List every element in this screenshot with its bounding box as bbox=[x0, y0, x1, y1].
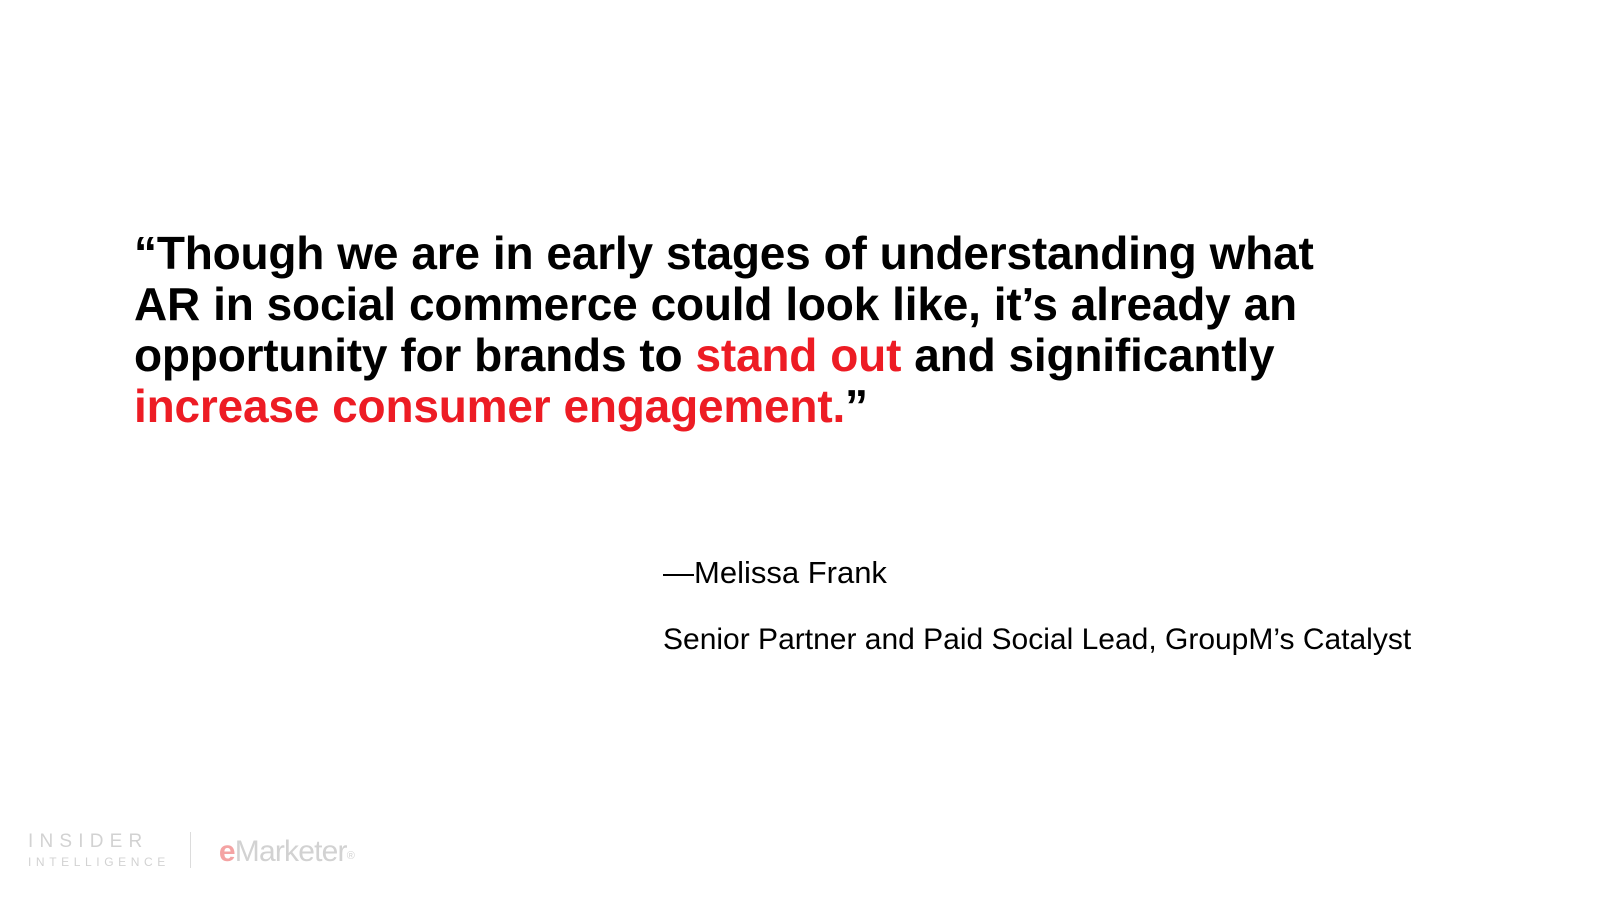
insider-intelligence-logo: INSIDER INTELLIGENCE bbox=[28, 831, 170, 870]
attribution-block: —Melissa Frank Senior Partner and Paid S… bbox=[663, 553, 1423, 660]
quote-segment-2: and significantly bbox=[901, 329, 1274, 381]
quote-block: “Though we are in early stages of unders… bbox=[134, 228, 1374, 432]
quote-close-mark: ” bbox=[845, 380, 868, 432]
quote-text: “Though we are in early stages of unders… bbox=[134, 228, 1374, 432]
emarketer-registered-icon: ® bbox=[347, 850, 355, 862]
emarketer-logo: eMarketer® bbox=[219, 836, 355, 872]
logo-divider bbox=[190, 832, 191, 868]
footer-logo-lockup: INSIDER INTELLIGENCE eMarketer® bbox=[28, 826, 355, 874]
attribution-role: Senior Partner and Paid Social Lead, Gro… bbox=[663, 593, 1423, 660]
insider-intelligence-line2: INTELLIGENCE bbox=[28, 852, 170, 870]
quote-highlight-stand-out: stand out bbox=[696, 329, 902, 381]
quote-open-mark: “ bbox=[134, 227, 157, 279]
insider-intelligence-line1: INSIDER bbox=[28, 831, 170, 852]
quote-highlight-increase-engagement: increase consumer engagement. bbox=[134, 380, 845, 432]
quote-slide: “Though we are in early stages of unders… bbox=[0, 0, 1600, 900]
emarketer-e-mark: e bbox=[219, 835, 235, 868]
attribution-name: —Melissa Frank bbox=[663, 553, 1423, 593]
emarketer-wordmark: Marketer bbox=[235, 835, 347, 868]
